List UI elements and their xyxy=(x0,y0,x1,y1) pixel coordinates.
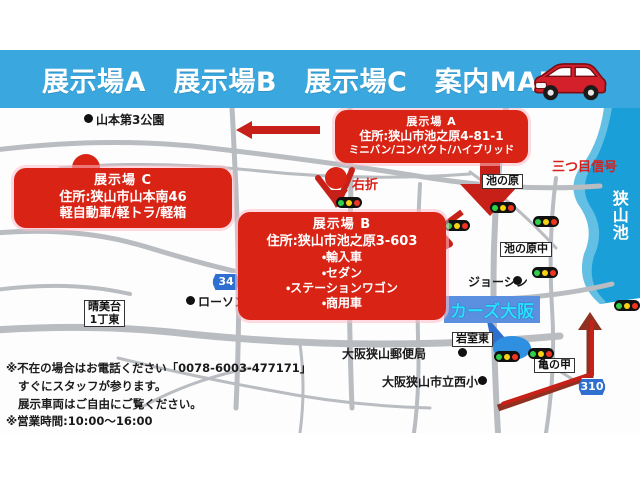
traffic-signal-3 xyxy=(444,220,470,231)
footer-notes: ※不在の場合はお電話ください「0078-6003-477171」 すぐにスタッフ… xyxy=(6,360,336,431)
callout-showroom-a[interactable]: 展示場 A 住所:狭山市池之原4-81-1 ミニバン/コンパクト/ハイブリッド xyxy=(335,110,528,163)
callout-b-title: 展示場 B xyxy=(248,217,436,234)
traffic-signal-6 xyxy=(528,348,554,359)
label-harumidai: 晴美台 1丁東 xyxy=(84,300,125,327)
traffic-signal-7 xyxy=(494,351,520,362)
label-cars-osaka[interactable]: カーズ大阪 xyxy=(444,296,540,323)
label-nishi-sho: 大阪狭山市立西小 xyxy=(382,373,478,390)
label-ikenohara: 池の原 xyxy=(482,174,523,189)
callout-b-address: 住所:狭山市池之原3-603 xyxy=(248,234,436,251)
footer-line-4: ※営業時間:10:00〜16:00 xyxy=(6,413,336,431)
label-sayamaike: 狭山池 xyxy=(610,190,627,241)
callout-a-categories: ミニバン/コンパクト/ハイブリッド xyxy=(345,144,518,157)
callout-showroom-b[interactable]: 展示場 B 住所:狭山市池之原3-603 ・輸入車 ・セダン ・ステーションワゴ… xyxy=(238,212,446,320)
callout-c-title: 展示場 C xyxy=(24,173,222,190)
callout-b-item-0: ・輸入車 xyxy=(248,250,436,265)
callout-c-address: 住所:狭山市山本南46 xyxy=(24,190,222,207)
traffic-signal-5 xyxy=(532,267,558,278)
label-mitsume-shingo: 三つ目信号 xyxy=(552,156,617,175)
label-ikenohara-naka: 池の原中 xyxy=(500,242,552,257)
footer-line-1: ※不在の場合はお電話ください「0078-6003-477171」 xyxy=(6,360,336,378)
callout-showroom-c[interactable]: 展示場 C 住所:狭山市山本南46 軽自動車/軽トラ/軽箱 xyxy=(14,168,232,228)
label-usetsu: 右折 xyxy=(352,174,378,193)
traffic-signal-4 xyxy=(533,216,559,227)
callout-b-item-2: ・ステーションワゴン xyxy=(248,281,436,296)
traffic-signal-8 xyxy=(614,300,640,311)
footer-line-3: 展示車両はご自由にご覧ください。 xyxy=(6,396,336,414)
dot-lawson xyxy=(186,296,195,305)
red-car-icon xyxy=(526,55,608,103)
label-iwamuro-higashi: 岩室東 xyxy=(452,332,493,347)
traffic-signal-1 xyxy=(336,197,362,208)
label-post-office: 大阪狭山郵便局 xyxy=(342,345,426,362)
callout-b-item-1: ・セダン xyxy=(248,266,436,281)
page-title: 展示場A 展示場B 展示場C 案内MAP xyxy=(42,60,559,99)
dot-yamamoto-park xyxy=(84,114,93,123)
label-joshin: ジョーシン xyxy=(468,273,528,290)
callout-c-categories: 軽自動車/軽トラ/軽箱 xyxy=(24,206,222,223)
label-kame-no-ko: 亀の甲 xyxy=(534,358,575,373)
map-page: 展示場A 展示場B 展示場C 案内MAP xyxy=(0,0,640,480)
route-shield-310: 310 xyxy=(578,378,606,396)
traffic-signal-2 xyxy=(490,202,516,213)
callout-a-title: 展示場 A xyxy=(345,115,518,129)
footer-line-2: すぐにスタッフが参ります。 xyxy=(6,378,336,396)
page-header: 展示場A 展示場B 展示場C 案内MAP xyxy=(0,50,640,108)
callout-a-address: 住所:狭山市池之原4-81-1 xyxy=(345,129,518,144)
marker-dot-a xyxy=(325,167,347,189)
dot-nishi-sho xyxy=(478,376,487,385)
route-shield-34: 34 xyxy=(212,273,240,291)
harumidai-line1: 晴美台 xyxy=(88,300,121,313)
label-yamamoto-park: 山本第3公園 xyxy=(96,111,164,128)
dot-post-office xyxy=(458,348,467,357)
harumidai-line2: 1丁東 xyxy=(90,313,120,326)
callout-b-item-3: ・商用車 xyxy=(248,296,436,311)
